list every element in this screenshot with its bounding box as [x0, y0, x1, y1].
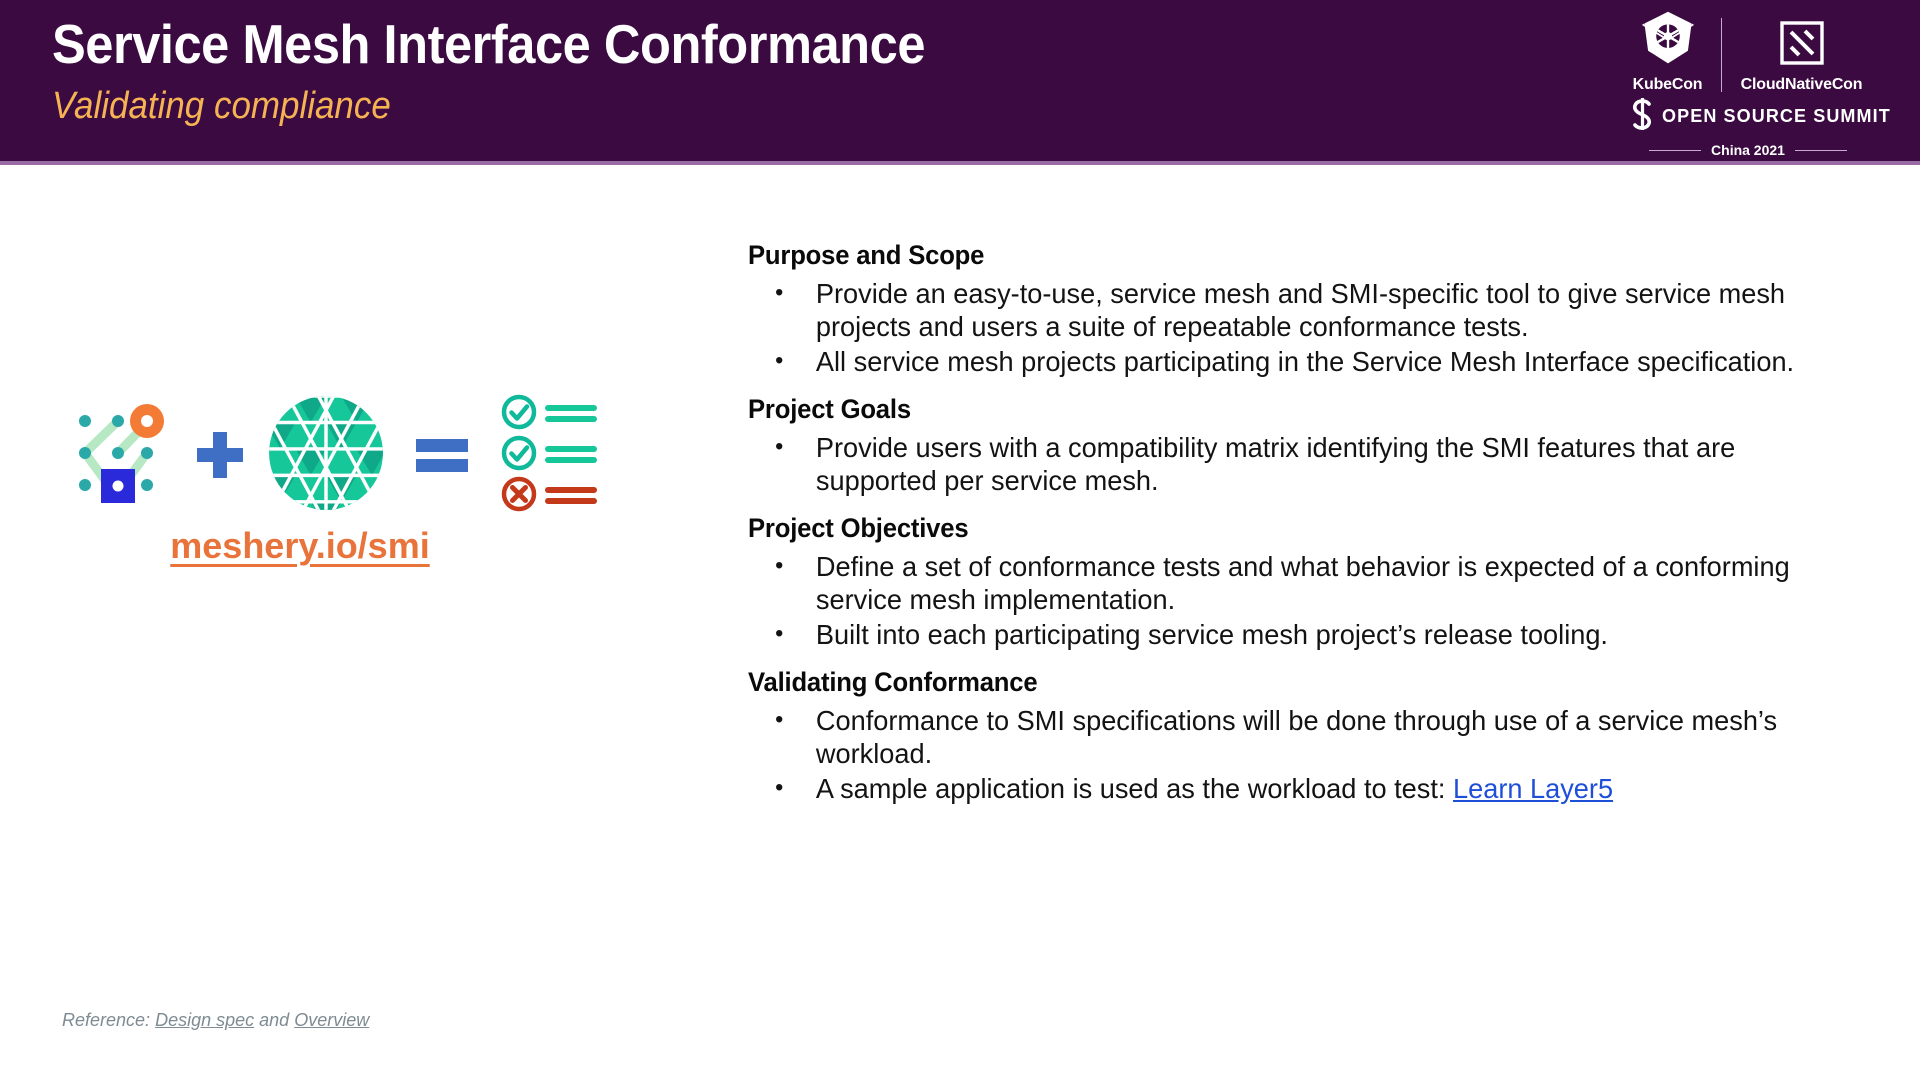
reference-prefix: Reference:	[62, 1010, 150, 1030]
open-source-summit-label: OPEN SOURCE SUMMIT	[1662, 106, 1891, 127]
section-heading: Project Objectives	[748, 513, 1822, 544]
section-heading: Purpose and Scope	[748, 240, 1822, 271]
meshery-smi-link[interactable]: meshery.io/smi	[170, 525, 429, 566]
list-item: Define a set of conformance tests and wh…	[748, 550, 1844, 616]
conference-year-label: China 2021	[1711, 142, 1785, 158]
logo-row-primary: KubeCon CloudNativeCon	[1624, 8, 1872, 94]
kubecon-label: KubeCon	[1633, 76, 1703, 94]
meshery-link-wrapper: meshery.io/smi	[0, 525, 600, 567]
list-item: Provide users with a compatibility matri…	[748, 431, 1844, 497]
reference-conjunction: and	[259, 1010, 289, 1030]
list-item: All service mesh projects participating …	[748, 345, 1844, 378]
left-illustration-panel: meshery.io/smi	[0, 165, 745, 1080]
bullet-list: Provide users with a compatibility matri…	[748, 431, 1878, 497]
bullet-list: Conformance to SMI specifications will b…	[748, 704, 1878, 805]
page-title: Service Mesh Interface Conformance	[52, 10, 925, 78]
section-heading: Project Goals	[748, 394, 1822, 425]
kubecon-logo: KubeCon	[1625, 9, 1711, 94]
section-project-objectives: Project Objectives Define a set of confo…	[748, 513, 1878, 651]
list-item-text: A sample application is used as the work…	[816, 773, 1453, 804]
title-block: Service Mesh Interface Conformance Valid…	[52, 10, 1001, 132]
service-mesh-sphere-icon	[265, 392, 387, 519]
list-item: Provide an easy-to-use, service mesh and…	[748, 277, 1844, 343]
section-purpose-and-scope: Purpose and Scope Provide an easy-to-use…	[748, 240, 1878, 378]
kubernetes-helm-icon	[1639, 9, 1697, 72]
bullet-list: Define a set of conformance tests and wh…	[748, 550, 1878, 651]
reference-footer: Reference: Design spec and Overview	[62, 1010, 369, 1031]
conference-logo-cluster: KubeCon CloudNativeCon OPEN SOURCE SUMMI…	[1624, 8, 1872, 148]
section-project-goals: Project Goals Provide users with a compa…	[748, 394, 1878, 497]
section-validating-conformance: Validating Conformance Conformance to SM…	[748, 667, 1878, 805]
cloudnativecon-logo: CloudNativeCon	[1732, 19, 1872, 94]
conformance-illustration	[55, 390, 655, 520]
service-graph-icon	[55, 393, 175, 518]
list-item: A sample application is used as the work…	[748, 772, 1844, 805]
plus-symbol	[175, 426, 265, 484]
design-spec-link[interactable]: Design spec	[155, 1010, 254, 1030]
overview-link[interactable]: Overview	[294, 1010, 369, 1030]
equals-symbol	[387, 433, 497, 477]
cncf-square-icon	[1778, 19, 1826, 72]
bullet-list: Provide an easy-to-use, service mesh and…	[748, 277, 1878, 378]
conformance-results-icon	[497, 394, 617, 517]
cloudnativecon-label: CloudNativeCon	[1741, 76, 1863, 94]
year-rule-right	[1795, 150, 1847, 151]
content-column: Purpose and Scope Provide an easy-to-use…	[748, 240, 1878, 821]
open-source-summit-s-icon	[1626, 96, 1660, 137]
logo-divider	[1721, 18, 1722, 92]
learn-layer5-link[interactable]: Learn Layer5	[1453, 773, 1613, 804]
section-heading: Validating Conformance	[748, 667, 1822, 698]
logo-row-year: China 2021	[1624, 142, 1872, 158]
list-item: Built into each participating service me…	[748, 618, 1844, 651]
logo-row-summit: OPEN SOURCE SUMMIT	[1624, 96, 1872, 137]
page-subtitle: Validating compliance	[52, 80, 925, 132]
year-rule-left	[1649, 150, 1701, 151]
list-item: Conformance to SMI specifications will b…	[748, 704, 1844, 770]
